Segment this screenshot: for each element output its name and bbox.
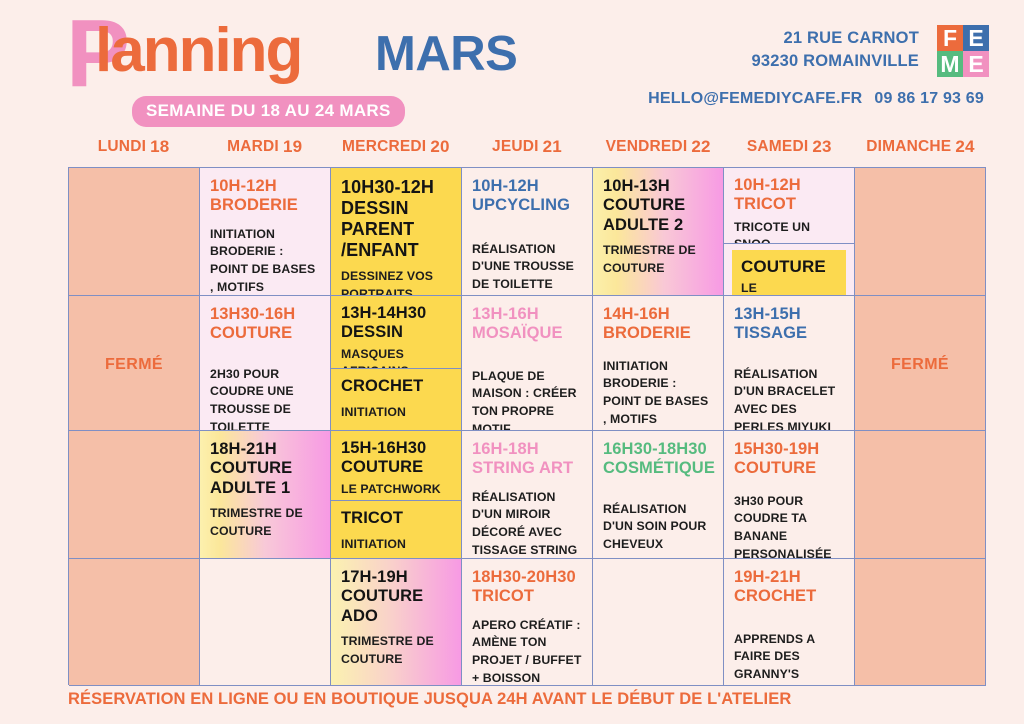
workshop-desc: APPRENDS A FAIRE DES GRANNY'S SQUARE	[734, 631, 844, 686]
day-number: 23	[812, 137, 831, 157]
workshop-name: CROCHET	[734, 587, 844, 606]
planning-poster: P lanning MARS SEMAINE DU 18 AU 24 MARS …	[0, 0, 1024, 724]
workshop-desc: TRIMESTRE DE COUTURE	[341, 633, 451, 669]
workshop-name: UPCYCLING	[472, 196, 582, 215]
workshop-name: COSMÉTIQUE	[603, 459, 713, 478]
logo-letter-e1: E	[963, 25, 989, 51]
day-header-mardi: MARDI19	[199, 133, 330, 161]
workshop-time: 13H-14H30	[341, 304, 426, 322]
workshop-time: 10H-12H	[734, 176, 801, 194]
day-name: SAMEDI	[747, 138, 808, 156]
workshop-name: COUTURE	[741, 257, 837, 277]
workshop-desc: 3H30 POUR COUDRE TA BANANE PERSONALISÉE	[734, 493, 844, 559]
workshop-time: 18H-21H	[210, 440, 277, 458]
workshop-name: STRING ART	[472, 459, 582, 478]
workshop-desc: LE PATCHWORK	[741, 280, 837, 296]
cell-mardi-r4[interactable]	[200, 559, 331, 686]
day-name: VENDREDI	[606, 138, 688, 156]
cell-mardi-r2[interactable]: 13H30-16H COUTURE 2H30 POUR COUDRE UNE T…	[200, 296, 331, 431]
cell-dimanche-r2[interactable]: FERMÉ	[855, 296, 986, 431]
cell-samedi-r1[interactable]: 10H-12H TRICOT TRICOTE UN SNOO COUTURE L…	[724, 168, 855, 296]
workshop-name: TRICOT	[734, 195, 844, 214]
cell-samedi-r2[interactable]: 13H-15H TISSAGE RÉALISATION D'UN BRACELE…	[724, 296, 855, 431]
cell-lundi-r1[interactable]	[69, 168, 200, 296]
cell-samedi-r3[interactable]: 15H30-19H COUTURE 3H30 POUR COUDRE TA BA…	[724, 431, 855, 559]
workshop-title: 14H-16H BRODERIE	[603, 305, 713, 344]
workshop-name: COUTURE	[341, 458, 451, 477]
workshop-title: 13H-14H30 DESSIN	[341, 304, 451, 343]
workshop-desc: INITIATION	[341, 536, 451, 554]
workshop-title: 15H30-19H COUTURE	[734, 440, 844, 479]
cell-lundi-r4[interactable]	[69, 559, 200, 686]
workshop-time: 13H-16H	[472, 305, 539, 323]
logo-letter-m: M	[937, 51, 963, 77]
workshop-desc: INITIATION BRODERIE : POINT DE BASES , M…	[603, 358, 713, 431]
workshop-name-2: ADO	[341, 607, 451, 626]
workshop-title: 16H-18H STRING ART	[472, 440, 582, 479]
workshop-name: TRICOT	[472, 587, 582, 606]
day-number: 19	[283, 137, 302, 157]
closed-label: FERMÉ	[79, 305, 189, 424]
cell-vendredi-r2[interactable]: 14H-16H BRODERIE INITIATION BRODERIE : P…	[593, 296, 724, 431]
cell-subsplit: 10H-12H TRICOT TRICOTE UN SNOO COUTURE L…	[724, 168, 854, 295]
workshop-slot-top[interactable]: 13H-14H30 DESSIN MASQUES AFRICAINS	[331, 296, 461, 369]
cell-dimanche-r3[interactable]	[855, 431, 986, 559]
workshop-desc: RÉALISATION D'UN SOIN POUR CHEVEUX	[603, 501, 713, 554]
workshop-name: COUTURE	[734, 459, 844, 478]
poster-header: P lanning MARS SEMAINE DU 18 AU 24 MARS …	[0, 0, 1024, 130]
day-number: 21	[543, 137, 562, 157]
workshop-time: 10H-13H	[603, 177, 670, 195]
workshop-name: TRICOT	[341, 509, 451, 528]
workshop-title: 13H-15H TISSAGE	[734, 305, 844, 344]
workshop-desc: RÉALISATION D'UNE TROUSSE DE TOILETTE	[472, 241, 582, 294]
cell-samedi-r4[interactable]: 19H-21H CROCHET APPRENDS A FAIRE DES GRA…	[724, 559, 855, 686]
logo-letter-f: F	[937, 25, 963, 51]
day-header-lundi: LUNDI18	[68, 133, 199, 161]
workshop-name: COUTURE	[210, 459, 320, 478]
workshop-time: 10H30-12H	[341, 177, 434, 197]
closed-label: FERMÉ	[865, 305, 975, 424]
address-line-2: 93230 ROMAINVILLE	[751, 50, 919, 73]
workshop-title: 10H-12H UPCYCLING	[472, 177, 582, 216]
cell-vendredi-r4[interactable]	[593, 559, 724, 686]
workshop-time: 15H-16H30	[341, 439, 426, 457]
cell-jeudi-r2[interactable]: 13H-16H MOSAÏQUE PLAQUE DE MAISON : CRÉE…	[462, 296, 593, 431]
workshop-desc: TRICOTE UN SNOO	[734, 219, 844, 244]
workshop-desc: PLAQUE DE MAISON : CRÉER TON PROPRE MOTI…	[472, 368, 582, 431]
workshop-title: 10H-12H BRODERIE	[210, 177, 320, 216]
workshop-desc: INITIATION BRODERIE : POINT DE BASES , M…	[210, 226, 320, 296]
workshop-slot-bottom[interactable]: TRICOT INITIATION	[331, 501, 461, 558]
workshop-desc: APERO CRÉATIF : AMÈNE TON PROJET / BUFFE…	[472, 617, 582, 686]
day-number: 24	[955, 137, 974, 157]
day-number: 20	[430, 137, 449, 157]
day-name: LUNDI	[98, 138, 146, 156]
workshop-name-2: ADULTE 2	[603, 216, 713, 235]
workshop-name: DESSIN	[341, 323, 451, 342]
workshop-title: 15H-16H30 COUTURE	[341, 439, 451, 478]
workshop-time: 17H-19H	[341, 568, 408, 586]
cell-mercredi-r1[interactable]: 10H30-12H DESSIN PARENT /ENFANT DESSINEZ…	[331, 168, 462, 296]
day-name: MARDI	[227, 138, 279, 156]
workshop-name: BRODERIE	[210, 196, 320, 215]
workshop-desc: LE PATCHWORK	[341, 481, 451, 499]
workshop-time: 16H-18H	[472, 440, 539, 458]
cell-mardi-r1[interactable]: 10H-12H BRODERIE INITIATION BRODERIE : P…	[200, 168, 331, 296]
workshop-time: 10H-12H	[472, 177, 539, 195]
workshop-desc: 2H30 POUR COUDRE UNE TROUSSE DE TOILETTE	[210, 366, 320, 431]
email-link[interactable]: HELLO@FEMEDIYCAFE.FR	[648, 90, 862, 107]
workshop-slot-bottom[interactable]: CROCHET INITIATION	[331, 369, 461, 428]
workshop-time: 15H30-19H	[734, 440, 819, 458]
title-month: MARS	[375, 30, 517, 79]
workshop-name-2: ADULTE 1	[210, 479, 320, 498]
cell-jeudi-r4[interactable]: 18H30-20H30 TRICOT APERO CRÉATIF : AMÈNE…	[462, 559, 593, 686]
cell-mercredi-r2[interactable]: 13H-14H30 DESSIN MASQUES AFRICAINS CROCH…	[331, 296, 462, 431]
cell-lundi-r3[interactable]	[69, 431, 200, 559]
day-name: DIMANCHE	[866, 138, 951, 156]
workshop-slot-top[interactable]: 15H-16H30 COUTURE LE PATCHWORK	[331, 431, 461, 501]
workshop-slot-top[interactable]: 10H-12H TRICOT TRICOTE UN SNOO	[724, 168, 854, 244]
workshop-title: 10H-12H TRICOT	[734, 176, 844, 215]
workshop-time: 13H30-16H	[210, 305, 295, 323]
contact-block: HELLO@FEMEDIYCAFE.FR09 86 17 93 69	[648, 90, 984, 108]
workshop-desc: INITIATION	[341, 404, 451, 422]
workshop-title: 10H-13H COUTURE ADULTE 2	[603, 177, 713, 235]
cell-dimanche-r4[interactable]	[855, 559, 986, 686]
phone-number[interactable]: 09 86 17 93 69	[874, 90, 984, 107]
cell-dimanche-r1[interactable]	[855, 168, 986, 296]
workshop-time: 14H-16H	[603, 305, 670, 323]
week-badge: SEMAINE DU 18 AU 24 MARS	[132, 96, 405, 127]
workshop-title: 18H-21H COUTURE ADULTE 1	[210, 440, 320, 498]
workshop-name: MOSAÏQUE	[472, 324, 582, 343]
address-line-1: 21 RUE CARNOT	[751, 27, 919, 50]
day-header-jeudi: JEUDI21	[461, 133, 592, 161]
logo-letter-e2: E	[963, 51, 989, 77]
workshop-name: BRODERIE	[603, 324, 713, 343]
cell-mercredi-r4[interactable]: 17H-19H COUTURE ADO TRIMESTRE DE COUTURE	[331, 559, 462, 686]
workshop-title: 16H30-18H30 COSMÉTIQUE	[603, 440, 713, 479]
day-name: JEUDI	[492, 138, 539, 156]
day-number: 18	[150, 137, 169, 157]
workshop-title: 19H-21H CROCHET	[734, 568, 844, 607]
workshop-slot-highlight[interactable]: COUTURE LE PATCHWORK	[732, 250, 846, 296]
workshop-name-2: /ENFANT	[341, 240, 451, 261]
day-header-vendredi: VENDREDI22	[593, 133, 724, 161]
cell-vendredi-r3[interactable]: 16H30-18H30 COSMÉTIQUE RÉALISATION D'UN …	[593, 431, 724, 559]
workshop-name: COUTURE	[210, 324, 320, 343]
workshop-time: 13H-15H	[734, 305, 801, 323]
workshop-time: 16H30-18H30	[603, 440, 707, 458]
workshop-name: DESSIN PARENT	[341, 198, 451, 240]
address-block: 21 RUE CARNOT 93230 ROMAINVILLE	[751, 27, 919, 74]
cell-subsplit: 15H-16H30 COUTURE LE PATCHWORK TRICOT IN…	[331, 431, 461, 558]
day-header-row: LUNDI18 MARDI19 MERCREDI20 JEUDI21 VENDR…	[68, 133, 986, 161]
workshop-title: 13H-16H MOSAÏQUE	[472, 305, 582, 344]
workshop-name: CROCHET	[341, 377, 451, 396]
schedule-grid: 10H-12H BRODERIE INITIATION BRODERIE : P…	[68, 167, 986, 685]
workshop-desc: RÉALISATION D'UN MIROIR DÉCORÉ AVEC TISS…	[472, 489, 582, 559]
cell-mardi-r3[interactable]: 18H-21H COUTURE ADULTE 1 TRIMESTRE DE CO…	[200, 431, 331, 559]
cell-subsplit: 13H-14H30 DESSIN MASQUES AFRICAINS CROCH…	[331, 296, 461, 430]
cell-jeudi-r3[interactable]: 16H-18H STRING ART RÉALISATION D'UN MIRO…	[462, 431, 593, 559]
workshop-desc: RÉALISATION D'UN BRACELET AVEC DES PERLE…	[734, 366, 844, 431]
feme-logo-icon: F E M E	[937, 25, 989, 77]
workshop-name: COUTURE	[341, 587, 451, 606]
workshop-name: COUTURE	[603, 196, 713, 215]
workshop-time: 10H-12H	[210, 177, 277, 195]
day-number: 22	[691, 137, 710, 157]
reservation-note: RÉSERVATION EN LIGNE OU EN BOUTIQUE JUSQ…	[68, 690, 791, 709]
workshop-desc: TRIMESTRE DE COUTURE	[210, 505, 320, 541]
cell-vendredi-r1[interactable]: 10H-13H COUTURE ADULTE 2 TRIMESTRE DE CO…	[593, 168, 724, 296]
workshop-desc: DESSINEZ VOS PORTRAITS	[341, 268, 451, 296]
workshop-title: 18H30-20H30 TRICOT	[472, 568, 582, 607]
day-header-dimanche: DIMANCHE24	[855, 133, 986, 161]
cell-lundi-r2[interactable]: FERMÉ	[69, 296, 200, 431]
workshop-desc: TRIMESTRE DE COUTURE	[603, 242, 713, 278]
cell-mercredi-r3[interactable]: 15H-16H30 COUTURE LE PATCHWORK TRICOT IN…	[331, 431, 462, 559]
day-header-mercredi: MERCREDI20	[330, 133, 461, 161]
workshop-title: 10H30-12H DESSIN PARENT /ENFANT	[341, 177, 451, 261]
day-header-samedi: SAMEDI23	[724, 133, 855, 161]
workshop-title: 13H30-16H COUTURE	[210, 305, 320, 344]
workshop-time: 19H-21H	[734, 568, 801, 586]
cell-jeudi-r1[interactable]: 10H-12H UPCYCLING RÉALISATION D'UNE TROU…	[462, 168, 593, 296]
workshop-desc: MASQUES AFRICAINS	[341, 346, 451, 369]
workshop-title: 17H-19H COUTURE ADO	[341, 568, 451, 626]
workshop-name: TISSAGE	[734, 324, 844, 343]
workshop-time: 18H30-20H30	[472, 568, 576, 586]
day-name: MERCREDI	[342, 138, 426, 156]
title-planning: lanning	[95, 20, 301, 82]
